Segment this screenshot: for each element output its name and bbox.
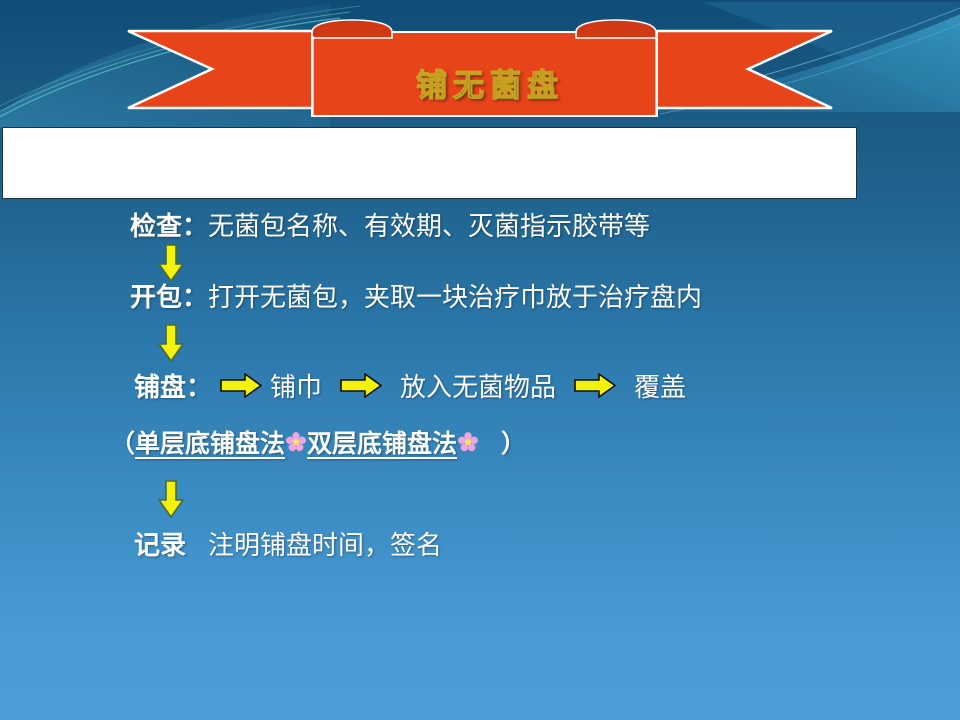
arrow-right-icon	[220, 373, 262, 398]
flower-icon	[458, 432, 478, 452]
step-tray-substep-2: 放入无菌物品	[400, 367, 556, 404]
slide-body: 检查 ： 无菌包名称、有效期、灭菌指示胶带等 开包 ： 打开无菌包，夹取一块治疗…	[0, 199, 960, 720]
step-tray-label: 铺盘	[134, 367, 186, 404]
presentation-slide: 铺无菌盘 检查 ： 无菌包名称、有效期、灭菌指示胶带等 开包 ： 打开无菌包，夹…	[0, 0, 960, 720]
step-tray: 铺盘 ： 铺巾 放入无菌物品 覆盖	[134, 367, 686, 404]
step-record: 记录 注明铺盘时间，签名	[134, 525, 442, 562]
step-tray-colon: ：	[186, 367, 212, 404]
step-tray-substep-3: 覆盖	[634, 367, 686, 404]
step-tray-substep-1: 铺巾	[270, 367, 322, 404]
link-double-layer-method[interactable]: 双层底铺盘法	[307, 424, 457, 460]
methods-line: （ 单层底铺盘法 双层底铺盘法	[110, 424, 526, 460]
flower-icon	[286, 432, 306, 452]
link-single-layer-method[interactable]: 单层底铺盘法	[135, 424, 285, 460]
close-paren: ）	[501, 424, 526, 460]
arrow-down-icon	[158, 324, 184, 362]
step-open-label: 开包	[130, 277, 182, 314]
open-paren: （	[110, 424, 135, 460]
content-text-box[interactable]	[2, 127, 857, 199]
step-open-colon: ：	[182, 277, 208, 314]
title-banner: 铺无菌盘	[0, 0, 960, 130]
page-title: 铺无菌盘	[310, 60, 670, 105]
arrow-right-icon	[574, 373, 616, 398]
arrow-down-icon	[158, 480, 184, 518]
step-check-label: 检查	[130, 206, 182, 243]
step-check-colon: ：	[182, 206, 208, 243]
step-open-detail: 打开无菌包，夹取一块治疗巾放于治疗盘内	[208, 277, 702, 314]
step-check-detail: 无菌包名称、有效期、灭菌指示胶带等	[208, 206, 650, 243]
step-record-label: 记录	[134, 525, 186, 562]
step-check: 检查 ： 无菌包名称、有效期、灭菌指示胶带等	[130, 206, 650, 243]
step-open: 开包 ： 打开无菌包，夹取一块治疗巾放于治疗盘内	[130, 277, 702, 314]
step-record-detail: 注明铺盘时间，签名	[208, 525, 442, 562]
arrow-right-icon	[340, 373, 382, 398]
